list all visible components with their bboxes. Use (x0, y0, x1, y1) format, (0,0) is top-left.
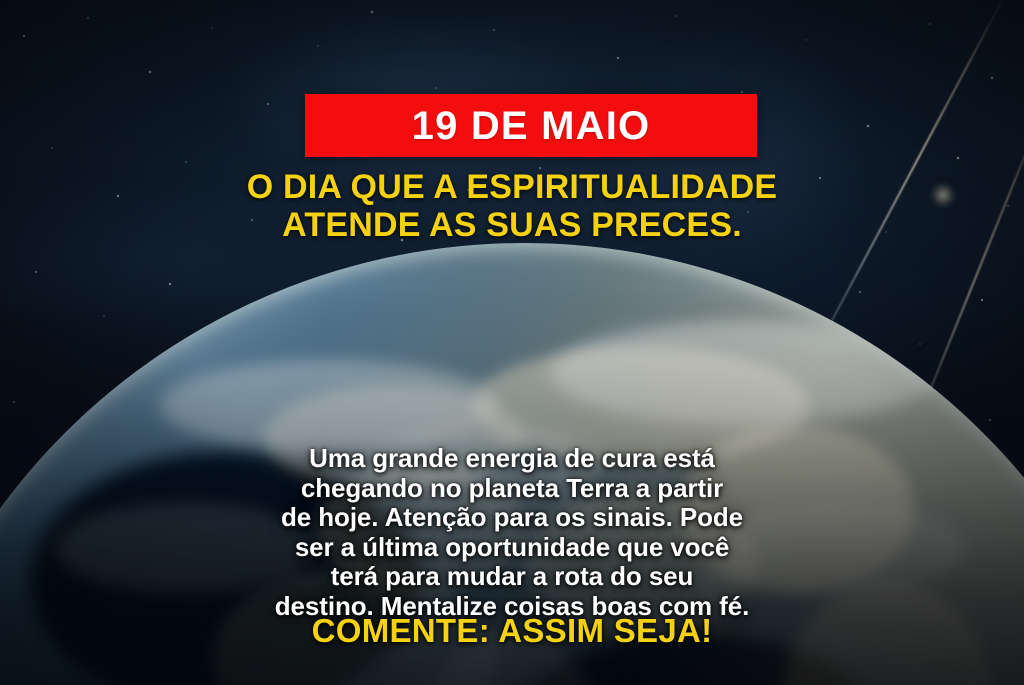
body-line-2: chegando no planeta Terra a partir (62, 474, 962, 504)
social-post-image: 19 DE MAIO O DIA QUE A ESPIRITUALIDADE A… (0, 0, 1024, 685)
body-line-1: Uma grande energia de cura está (62, 444, 962, 474)
call-to-action-text: COMENTE: ASSIM SEJA! (0, 614, 1024, 647)
body-copy: Uma grande energia de cura está chegando… (62, 444, 962, 621)
date-banner-text: 19 DE MAIO (412, 106, 651, 146)
body-line-3: de hoje. Atenção para os sinais. Pode (62, 503, 962, 533)
body-line-5: terá para mudar a rota do seu (62, 562, 962, 592)
headline-line-2: ATENDE AS SUAS PRECES. (0, 206, 1024, 244)
headline: O DIA QUE A ESPIRITUALIDADE ATENDE AS SU… (0, 168, 1024, 244)
body-line-4: ser a última oportunidade que você (62, 533, 962, 563)
date-banner: 19 DE MAIO (305, 94, 757, 157)
headline-line-1: O DIA QUE A ESPIRITUALIDADE (0, 168, 1024, 206)
poster-content: 19 DE MAIO O DIA QUE A ESPIRITUALIDADE A… (0, 0, 1024, 685)
